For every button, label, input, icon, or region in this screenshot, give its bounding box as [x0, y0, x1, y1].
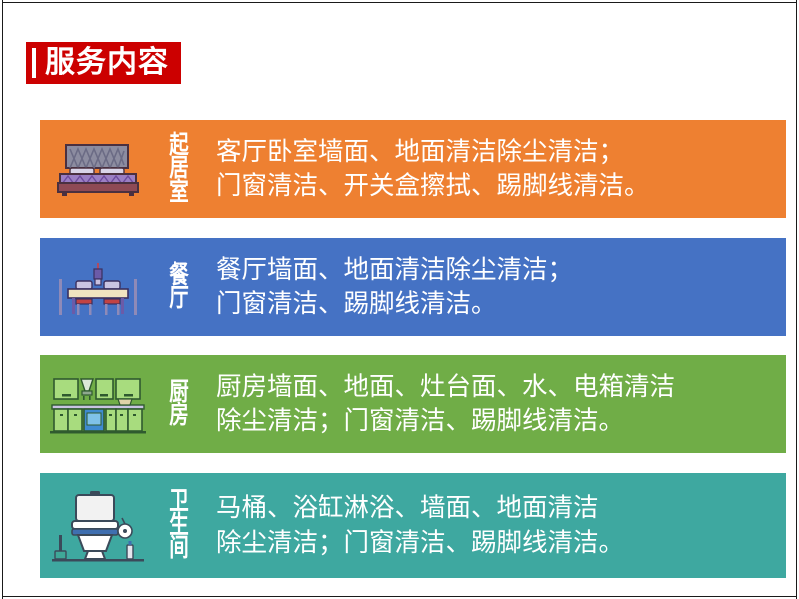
page-border-left	[2, 0, 3, 599]
service-line: 门窗清洁、开关盒擦拭、踢脚线清洁。	[216, 169, 650, 203]
dining-table-icon	[40, 238, 156, 336]
label-char: 起	[161, 134, 197, 158]
service-line: 厨房墙面、地面、灶台面、水、电箱清洁	[216, 370, 675, 404]
title-accent-bar	[32, 48, 36, 78]
service-card-text-kitchen: 厨房墙面、地面、灶台面、水、电箱清洁 除尘清洁；门窗清洁、踢脚线清洁。	[202, 370, 675, 438]
service-line: 除尘清洁；门窗清洁、踢脚线清洁。	[216, 404, 675, 438]
toilet-icon	[40, 473, 156, 578]
page-title-badge: 服务内容	[26, 42, 181, 84]
service-card-label-kitchen: 厨 房	[161, 381, 197, 428]
service-card-label-living-room: 起 居 室	[161, 134, 197, 205]
service-line: 餐厅墙面、地面清洁除尘清洁；	[216, 253, 573, 287]
service-card-label-bathroom: 卫 生 间	[161, 490, 197, 561]
label-char: 餐	[161, 264, 197, 288]
service-line: 马桶、浴缸淋浴、墙面、地面清洁	[216, 491, 624, 525]
kitchen-cabinet-icon	[40, 355, 156, 453]
label-char: 厨	[161, 381, 197, 405]
service-line: 客厅卧室墙面、地面清洁除尘清洁；	[216, 135, 650, 169]
label-char: 厅	[161, 287, 197, 311]
service-card-kitchen[interactable]: 厨 房 厨房墙面、地面、灶台面、水、电箱清洁 除尘清洁；门窗清洁、踢脚线清洁。	[40, 355, 786, 453]
service-line: 除尘清洁；门窗清洁、踢脚线清洁。	[216, 526, 624, 560]
bed-icon	[40, 120, 156, 218]
service-card-bathroom[interactable]: 卫 生 间 马桶、浴缸淋浴、墙面、地面清洁 除尘清洁；门窗清洁、踢脚线清洁。	[40, 473, 786, 578]
service-card-living-room[interactable]: 起 居 室 客厅卧室墙面、地面清洁除尘清洁； 门窗清洁、开关盒擦拭、踢脚线清洁。	[40, 120, 786, 218]
page-title: 服务内容	[45, 48, 169, 78]
service-card-text-dining-room: 餐厅墙面、地面清洁除尘清洁； 门窗清洁、踢脚线清洁。	[202, 253, 573, 321]
slide-page: 服务内容 起 居 室	[0, 0, 799, 599]
page-border-right	[796, 0, 797, 599]
page-border-top	[2, 2, 797, 3]
service-line: 门窗清洁、踢脚线清洁。	[216, 287, 573, 321]
label-char: 房	[161, 404, 197, 428]
service-card-label-dining-room: 餐 厅	[161, 264, 197, 311]
label-char: 间	[161, 537, 197, 561]
page-border-bottom	[2, 596, 797, 597]
label-char: 室	[161, 181, 197, 205]
service-card-text-living-room: 客厅卧室墙面、地面清洁除尘清洁； 门窗清洁、开关盒擦拭、踢脚线清洁。	[202, 135, 650, 203]
label-char: 卫	[161, 490, 197, 514]
service-card-dining-room[interactable]: 餐 厅 餐厅墙面、地面清洁除尘清洁； 门窗清洁、踢脚线清洁。	[40, 238, 786, 336]
service-card-text-bathroom: 马桶、浴缸淋浴、墙面、地面清洁 除尘清洁；门窗清洁、踢脚线清洁。	[202, 491, 624, 559]
